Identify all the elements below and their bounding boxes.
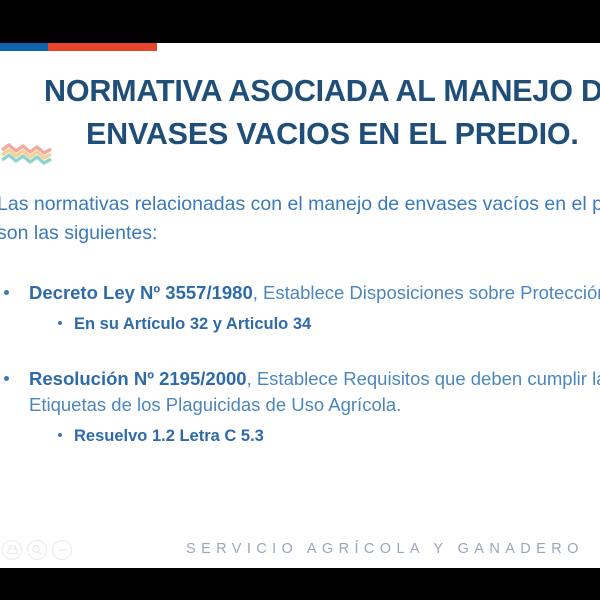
- letterbox-top-bar: [0, 0, 600, 43]
- bullet-1-rest: , Establece Disposiciones sobre Protecci…: [253, 282, 600, 303]
- bullet-2-lead: Resolución Nº 2195/2000: [29, 368, 247, 389]
- bullet-dot-icon: [4, 376, 9, 381]
- slide-title-line-2: ENVASES VACIOS EN EL PREDIO.: [86, 113, 600, 156]
- chile-flag-accent-bars: [0, 43, 157, 51]
- wave-decoration-icon: [1, 142, 53, 168]
- print-icon[interactable]: [2, 540, 22, 560]
- search-icon[interactable]: [27, 540, 47, 560]
- bullet-1-sub-1: En su Artículo 32 y Articulo 34: [74, 315, 311, 333]
- presentation-slide: NORMATIVA ASOCIADA AL MANEJO DE ENVASES …: [0, 43, 600, 568]
- intro-paragraph: Las normativas relacionadas con el manej…: [0, 190, 600, 248]
- bullet-level-1: Decreto Ley Nº 3557/1980, Establece Disp…: [0, 280, 600, 306]
- minus-icon[interactable]: [52, 540, 72, 560]
- footer-icon-group: [2, 540, 72, 560]
- bullet-2-sub-1: Resuelvo 1.2 Letra C 5.3: [74, 427, 264, 445]
- bullet-dot-icon: [4, 290, 9, 295]
- video-player-frame: NORMATIVA ASOCIADA AL MANEJO DE ENVASES …: [0, 0, 600, 600]
- list-item: Decreto Ley Nº 3557/1980, Establece Disp…: [0, 280, 600, 336]
- accent-bar-red: [48, 43, 157, 51]
- bullet-2-rest: , Establece Requisitos que deben cumplir…: [247, 368, 600, 389]
- sub-bullet-dot-icon: [58, 321, 62, 325]
- footer-organization-name: SERVICIO AGRÍCOLA Y GANADERO: [186, 541, 584, 557]
- letterbox-bottom-bar: [0, 568, 600, 600]
- bullet-level-2: Resuelvo 1.2 Letra C 5.3: [56, 424, 600, 448]
- bullet-level-2: En su Artículo 32 y Articulo 34: [56, 312, 600, 336]
- slide-title-line-1: NORMATIVA ASOCIADA AL MANEJO DE: [44, 70, 600, 113]
- slide-title: NORMATIVA ASOCIADA AL MANEJO DE ENVASES …: [44, 70, 600, 156]
- bullet-2-continuation: Etiquetas de los Plaguicidas de Uso Agrí…: [29, 392, 600, 418]
- list-item: Resolución Nº 2195/2000, Establece Requi…: [0, 366, 600, 448]
- sub-bullet-dot-icon: [58, 433, 62, 437]
- bullet-level-1: Resolución Nº 2195/2000, Establece Requi…: [0, 366, 600, 418]
- intro-line-2: son las siguientes:: [0, 219, 600, 248]
- normative-list: Decreto Ley Nº 3557/1980, Establece Disp…: [0, 280, 600, 448]
- bullet-1-lead: Decreto Ley Nº 3557/1980: [29, 282, 253, 303]
- intro-line-1: Las normativas relacionadas con el manej…: [0, 190, 600, 219]
- accent-bar-blue: [0, 43, 48, 51]
